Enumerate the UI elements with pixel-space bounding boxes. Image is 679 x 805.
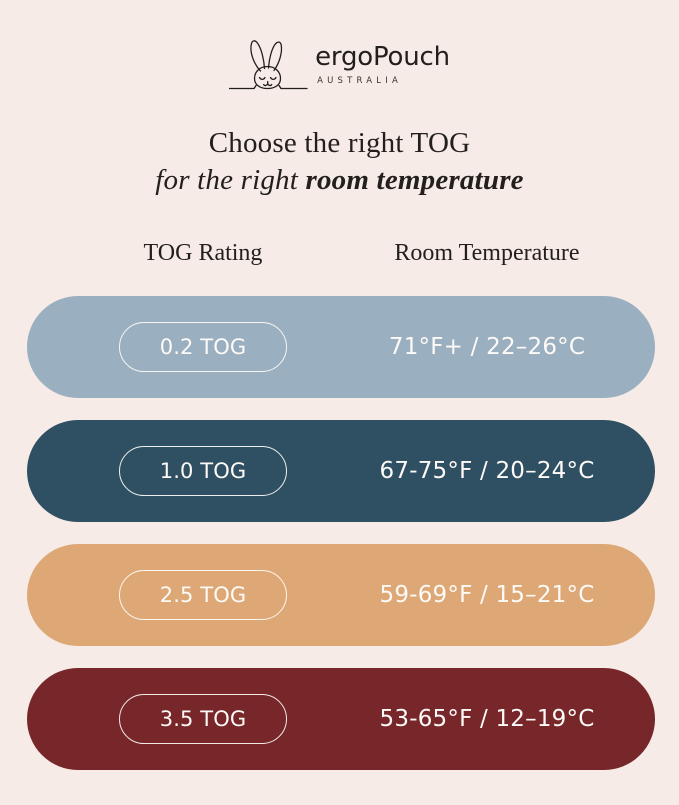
brand-logo: ergoPouch AUSTRALIA [0,33,679,93]
tog-rating-badge: 0.2 TOG [119,322,287,372]
room-temperature-value: 67-75°F / 20–24°C [319,420,655,522]
table-row: 3.5 TOG 53-65°F / 12–19°C [27,668,655,770]
column-header-room-temperature: Room Temperature [319,240,655,267]
page-title-line2: for the right room temperature [0,163,679,198]
room-temperature-value: 71°F+ / 22–26°C [319,296,655,398]
column-header-tog-rating: TOG Rating [87,240,319,267]
brand-subtitle: AUSTRALIA [317,76,402,86]
tog-rating-badge: 2.5 TOG [119,570,287,620]
brand-wordmark: ergoPouch [315,44,450,71]
page-title-line1: Choose the right TOG [0,126,679,161]
tog-rating-badge: 1.0 TOG [119,446,287,496]
tog-guide-page: ergoPouch AUSTRALIA Choose the right TOG… [0,0,679,805]
page-title-line2-prefix: for the right [155,164,305,196]
page-title: Choose the right TOG for the right room … [0,126,679,199]
table-row: 1.0 TOG 67-75°F / 20–24°C [27,420,655,522]
tog-rating-label: 3.5 TOG [160,707,246,731]
tog-rating-label: 0.2 TOG [160,335,246,359]
tog-rating-badge: 3.5 TOG [119,694,287,744]
bunny-logo-icon [229,33,313,93]
brand-wordmark-group: ergoPouch AUSTRALIA [315,44,450,85]
tog-rating-label: 2.5 TOG [160,583,246,607]
table-row: 2.5 TOG 59-69°F / 15–21°C [27,544,655,646]
table-row: 0.2 TOG 71°F+ / 22–26°C [27,296,655,398]
room-temperature-value: 53-65°F / 12–19°C [319,668,655,770]
tog-rows: 0.2 TOG 71°F+ / 22–26°C 1.0 TOG 67-75°F … [27,296,655,770]
tog-rating-label: 1.0 TOG [160,459,246,483]
room-temperature-value: 59-69°F / 15–21°C [319,544,655,646]
column-headers: TOG Rating Room Temperature [27,240,655,274]
page-title-line2-emphasis: room temperature [305,164,523,196]
